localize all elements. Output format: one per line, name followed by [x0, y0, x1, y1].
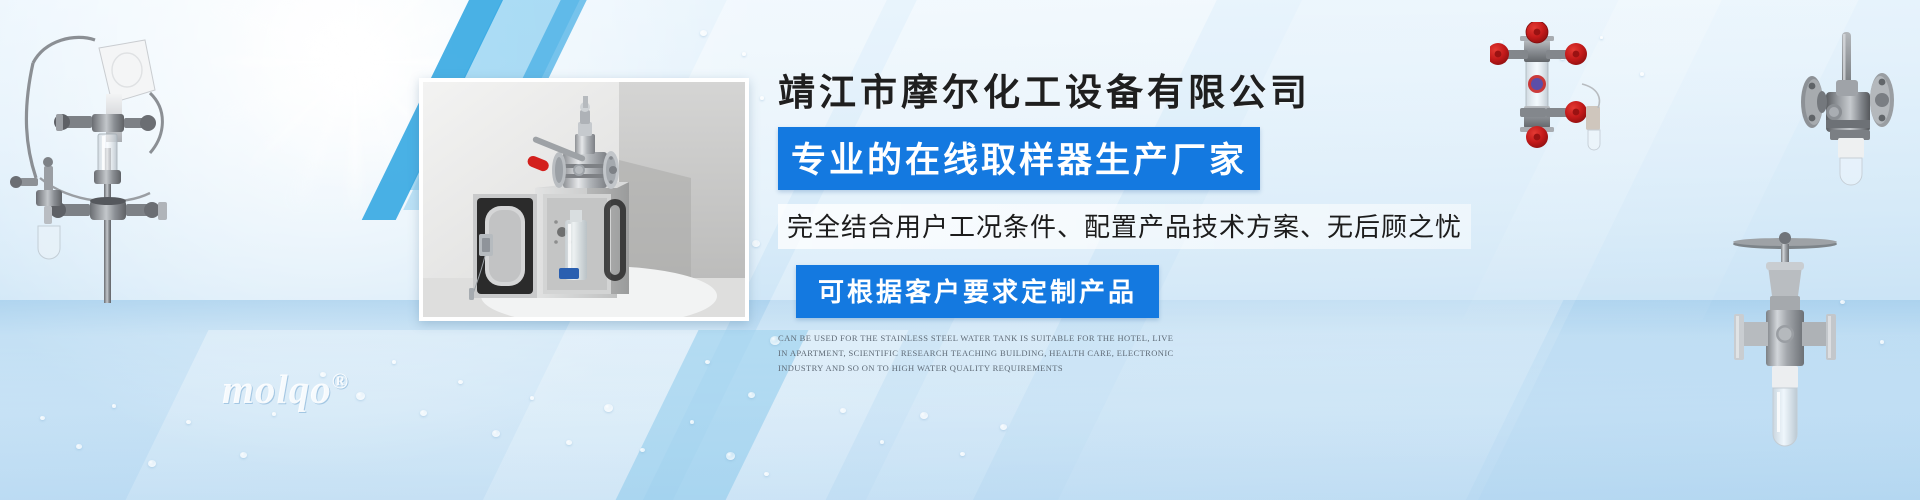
company-name: 靖江市摩尔化工设备有限公司 — [778, 72, 1398, 116]
english-description: CAN BE USED FOR THE STAINLESS STEEL WATE… — [778, 331, 1178, 376]
registered-mark-icon: ® — [332, 368, 349, 393]
promo-banner: 靖江市摩尔化工设备有限公司 专业的在线取样器生产厂家 完全结合用户工况条件、配置… — [0, 0, 1920, 500]
banner-text-block: 靖江市摩尔化工设备有限公司 专业的在线取样器生产厂家 完全结合用户工况条件、配置… — [778, 72, 1398, 376]
custom-product-badge: 可根据客户要求定制产品 — [796, 265, 1159, 318]
watermark-logo: molqo® — [222, 365, 349, 413]
watermark-text: molqo — [222, 366, 332, 412]
product-photo — [419, 78, 749, 321]
headline-badge: 专业的在线取样器生产厂家 — [778, 127, 1260, 190]
description-line: 完全结合用户工况条件、配置产品技术方案、无后顾之忧 — [778, 204, 1471, 249]
